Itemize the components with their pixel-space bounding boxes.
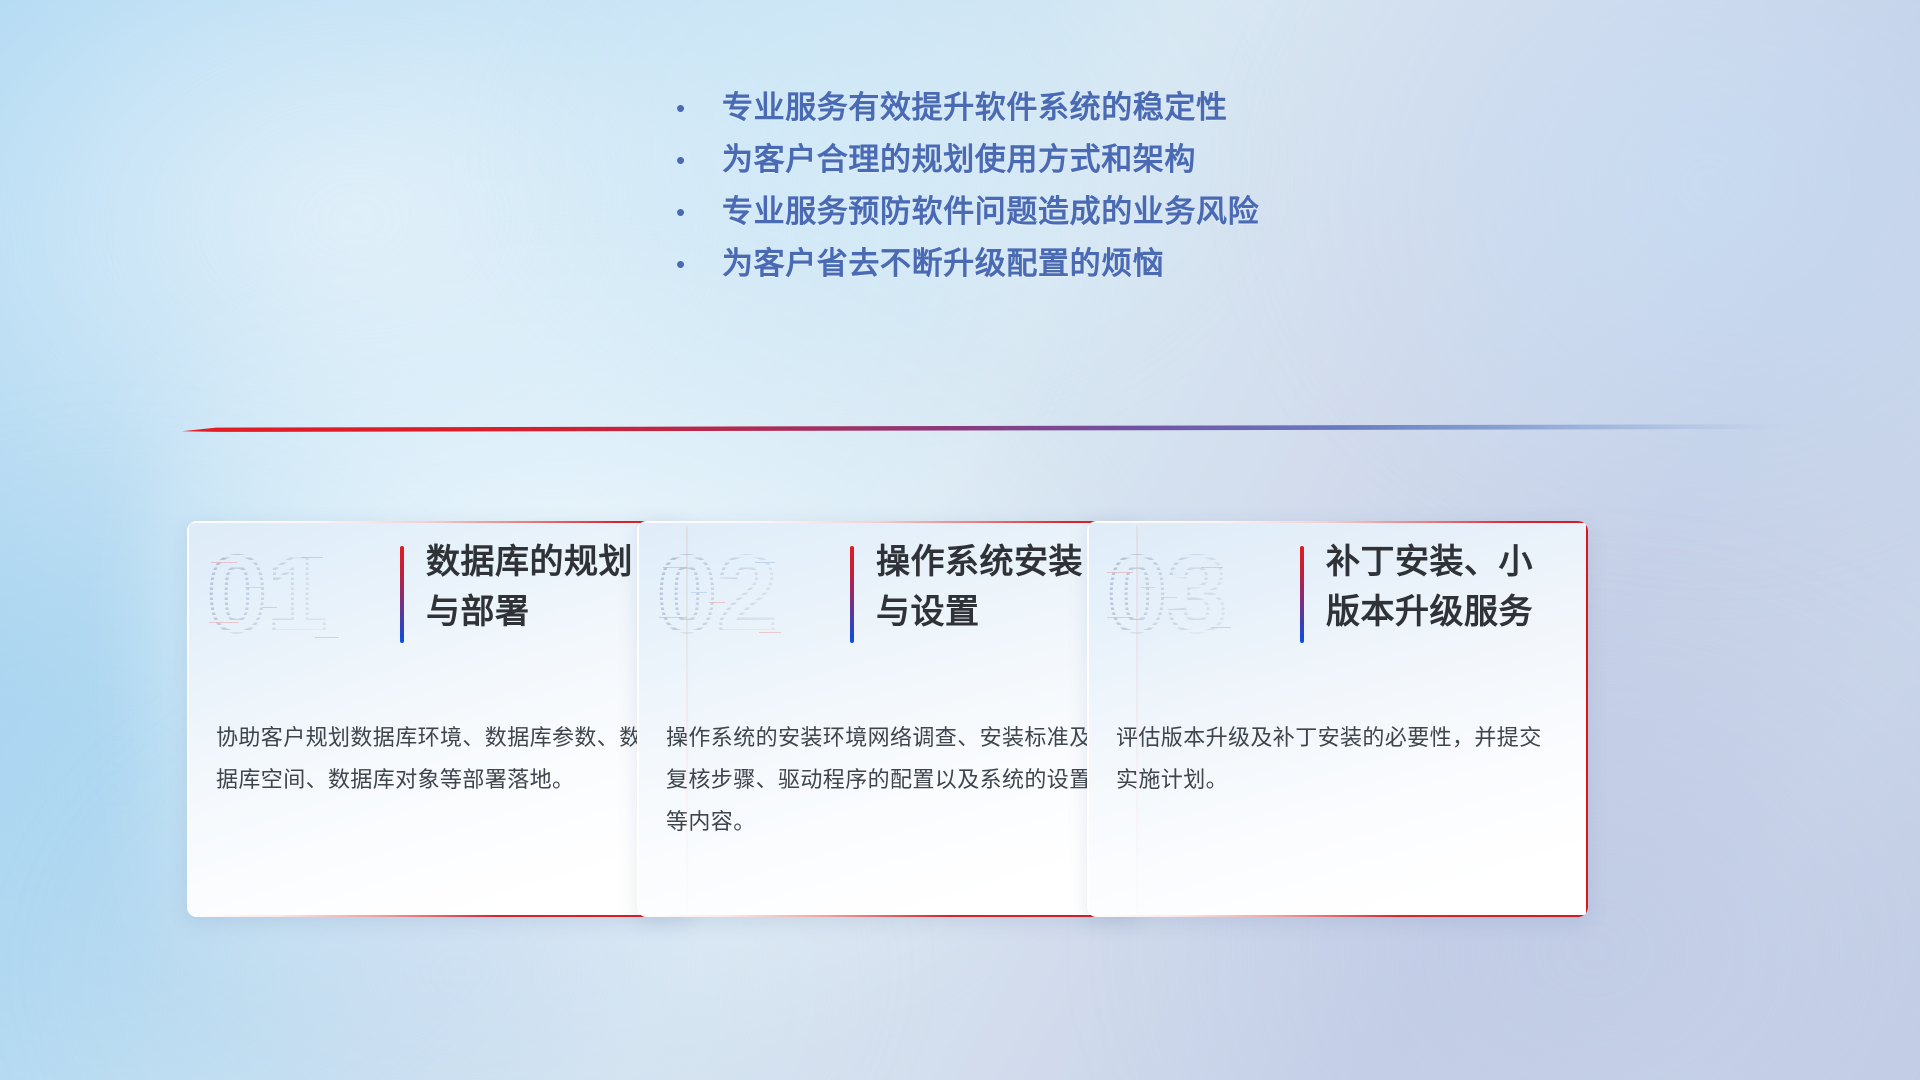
bullet-text: 专业服务预防软件问题造成的业务风险 bbox=[722, 192, 1259, 232]
list-item: • 为客户省去不断升级配置的烦恼 bbox=[676, 244, 1576, 296]
card-header: 03 补丁安装、小 版本升级服务 bbox=[1087, 521, 1588, 659]
bullet-text: 专业服务有效提升软件系统的稳定性 bbox=[722, 88, 1228, 128]
card-accent-bar bbox=[850, 546, 854, 643]
svg-text:01: 01 bbox=[207, 535, 327, 647]
list-item: • 专业服务有效提升软件系统的稳定性 bbox=[676, 88, 1576, 140]
section-divider bbox=[182, 418, 1794, 440]
card-title: 补丁安装、小 版本升级服务 bbox=[1326, 537, 1576, 637]
service-card-03[interactable]: 03 补丁安装、小 版本升级服务 评估版本升级及补丁安 bbox=[1087, 521, 1588, 917]
card-title-line-1: 补丁安装、小 bbox=[1326, 537, 1576, 587]
service-card-02[interactable]: 02 操作系统安装 与设置 操作系统的安装环境网络调查 bbox=[637, 521, 1138, 917]
card-border-bottom bbox=[637, 915, 1138, 917]
card-number-03-graphic: 03 bbox=[1105, 535, 1273, 647]
service-card-row: 01 数据库的规划 与部署 协助客户规划数据库环境、数 bbox=[0, 521, 1920, 921]
card-border-bottom bbox=[1087, 915, 1588, 917]
list-item: • 为客户合理的规划使用方式和架构 bbox=[676, 140, 1576, 192]
bullet-marker-icon: • bbox=[676, 140, 722, 180]
svg-text:02: 02 bbox=[657, 535, 777, 647]
card-description: 操作系统的安装环境网络调查、安装标准及复核步骤、驱动程序的配置以及系统的设置等内… bbox=[666, 717, 1112, 843]
list-item: • 专业服务预防软件问题造成的业务风险 bbox=[676, 192, 1576, 244]
card-accent-bar bbox=[1300, 546, 1304, 643]
card-title-line-2: 版本升级服务 bbox=[1326, 587, 1576, 637]
card-number-01-graphic: 01 bbox=[205, 535, 373, 647]
bullet-marker-icon: • bbox=[676, 192, 722, 232]
bullet-marker-icon: • bbox=[676, 244, 722, 284]
bullet-marker-icon: • bbox=[676, 88, 722, 128]
svg-text:03: 03 bbox=[1107, 535, 1227, 647]
card-description: 评估版本升级及补丁安装的必要性，并提交实施计划。 bbox=[1116, 717, 1562, 801]
card-header: 02 操作系统安装 与设置 bbox=[637, 521, 1138, 659]
card-accent-bar bbox=[400, 546, 404, 643]
bullet-text: 为客户合理的规划使用方式和架构 bbox=[722, 140, 1196, 180]
card-description: 协助客户规划数据库环境、数据库参数、数据库空间、数据库对象等部署落地。 bbox=[216, 717, 662, 801]
benefits-bullet-list: • 专业服务有效提升软件系统的稳定性 • 为客户合理的规划使用方式和架构 • 专… bbox=[676, 88, 1576, 296]
card-border-bottom bbox=[187, 915, 688, 917]
bullet-text: 为客户省去不断升级配置的烦恼 bbox=[722, 244, 1164, 284]
card-header: 01 数据库的规划 与部署 bbox=[187, 521, 688, 659]
card-number-02-graphic: 02 bbox=[655, 535, 823, 647]
service-card-01[interactable]: 01 数据库的规划 与部署 协助客户规划数据库环境、数 bbox=[187, 521, 688, 917]
